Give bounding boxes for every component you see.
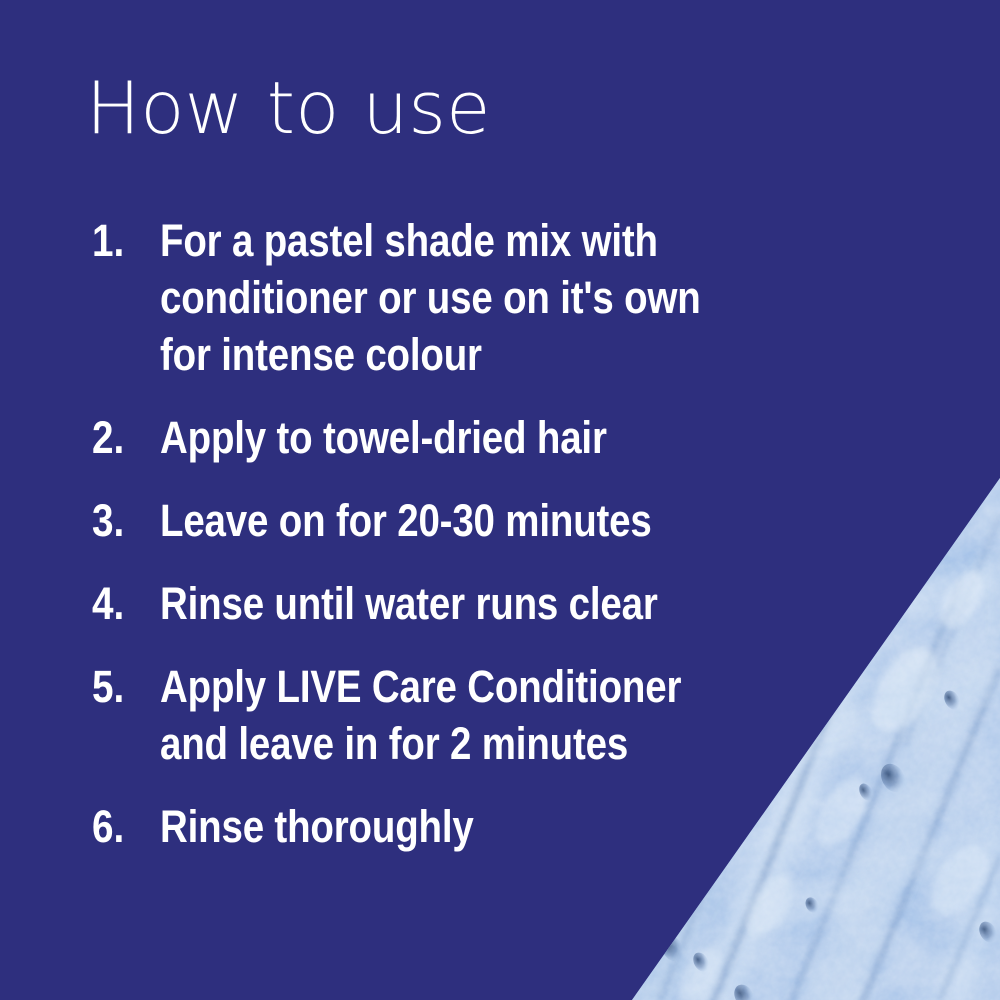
list-item: 6. Rinse thoroughly [92, 798, 852, 855]
instruction-list: 1. For a pastel shade mix with condition… [52, 212, 852, 881]
step-number: 1. [92, 212, 150, 269]
step-number: 5. [92, 658, 150, 715]
step-text: Leave on for 20-30 minutes [160, 492, 752, 549]
step-text: For a pastel shade mix with conditioner … [160, 212, 752, 383]
step-number: 3. [92, 492, 150, 549]
list-item: 4. Rinse until water runs clear [92, 575, 852, 632]
page-title: How to use [86, 72, 491, 144]
list-item: 1. For a pastel shade mix with condition… [92, 212, 852, 383]
step-number: 2. [92, 409, 150, 466]
step-text: Apply LIVE Care Conditioner and leave in… [160, 658, 752, 772]
step-text: Rinse thoroughly [160, 798, 752, 855]
step-number: 6. [92, 798, 150, 855]
list-item: 3. Leave on for 20-30 minutes [92, 492, 852, 549]
how-to-use-poster: How to use 1. For a pastel shade mix wit… [0, 0, 1000, 1000]
step-number: 4. [92, 575, 150, 632]
step-text: Rinse until water runs clear [160, 575, 752, 632]
list-item: 5. Apply LIVE Care Conditioner and leave… [92, 658, 852, 772]
step-text: Apply to towel-dried hair [160, 409, 752, 466]
list-item: 2. Apply to towel-dried hair [92, 409, 852, 466]
